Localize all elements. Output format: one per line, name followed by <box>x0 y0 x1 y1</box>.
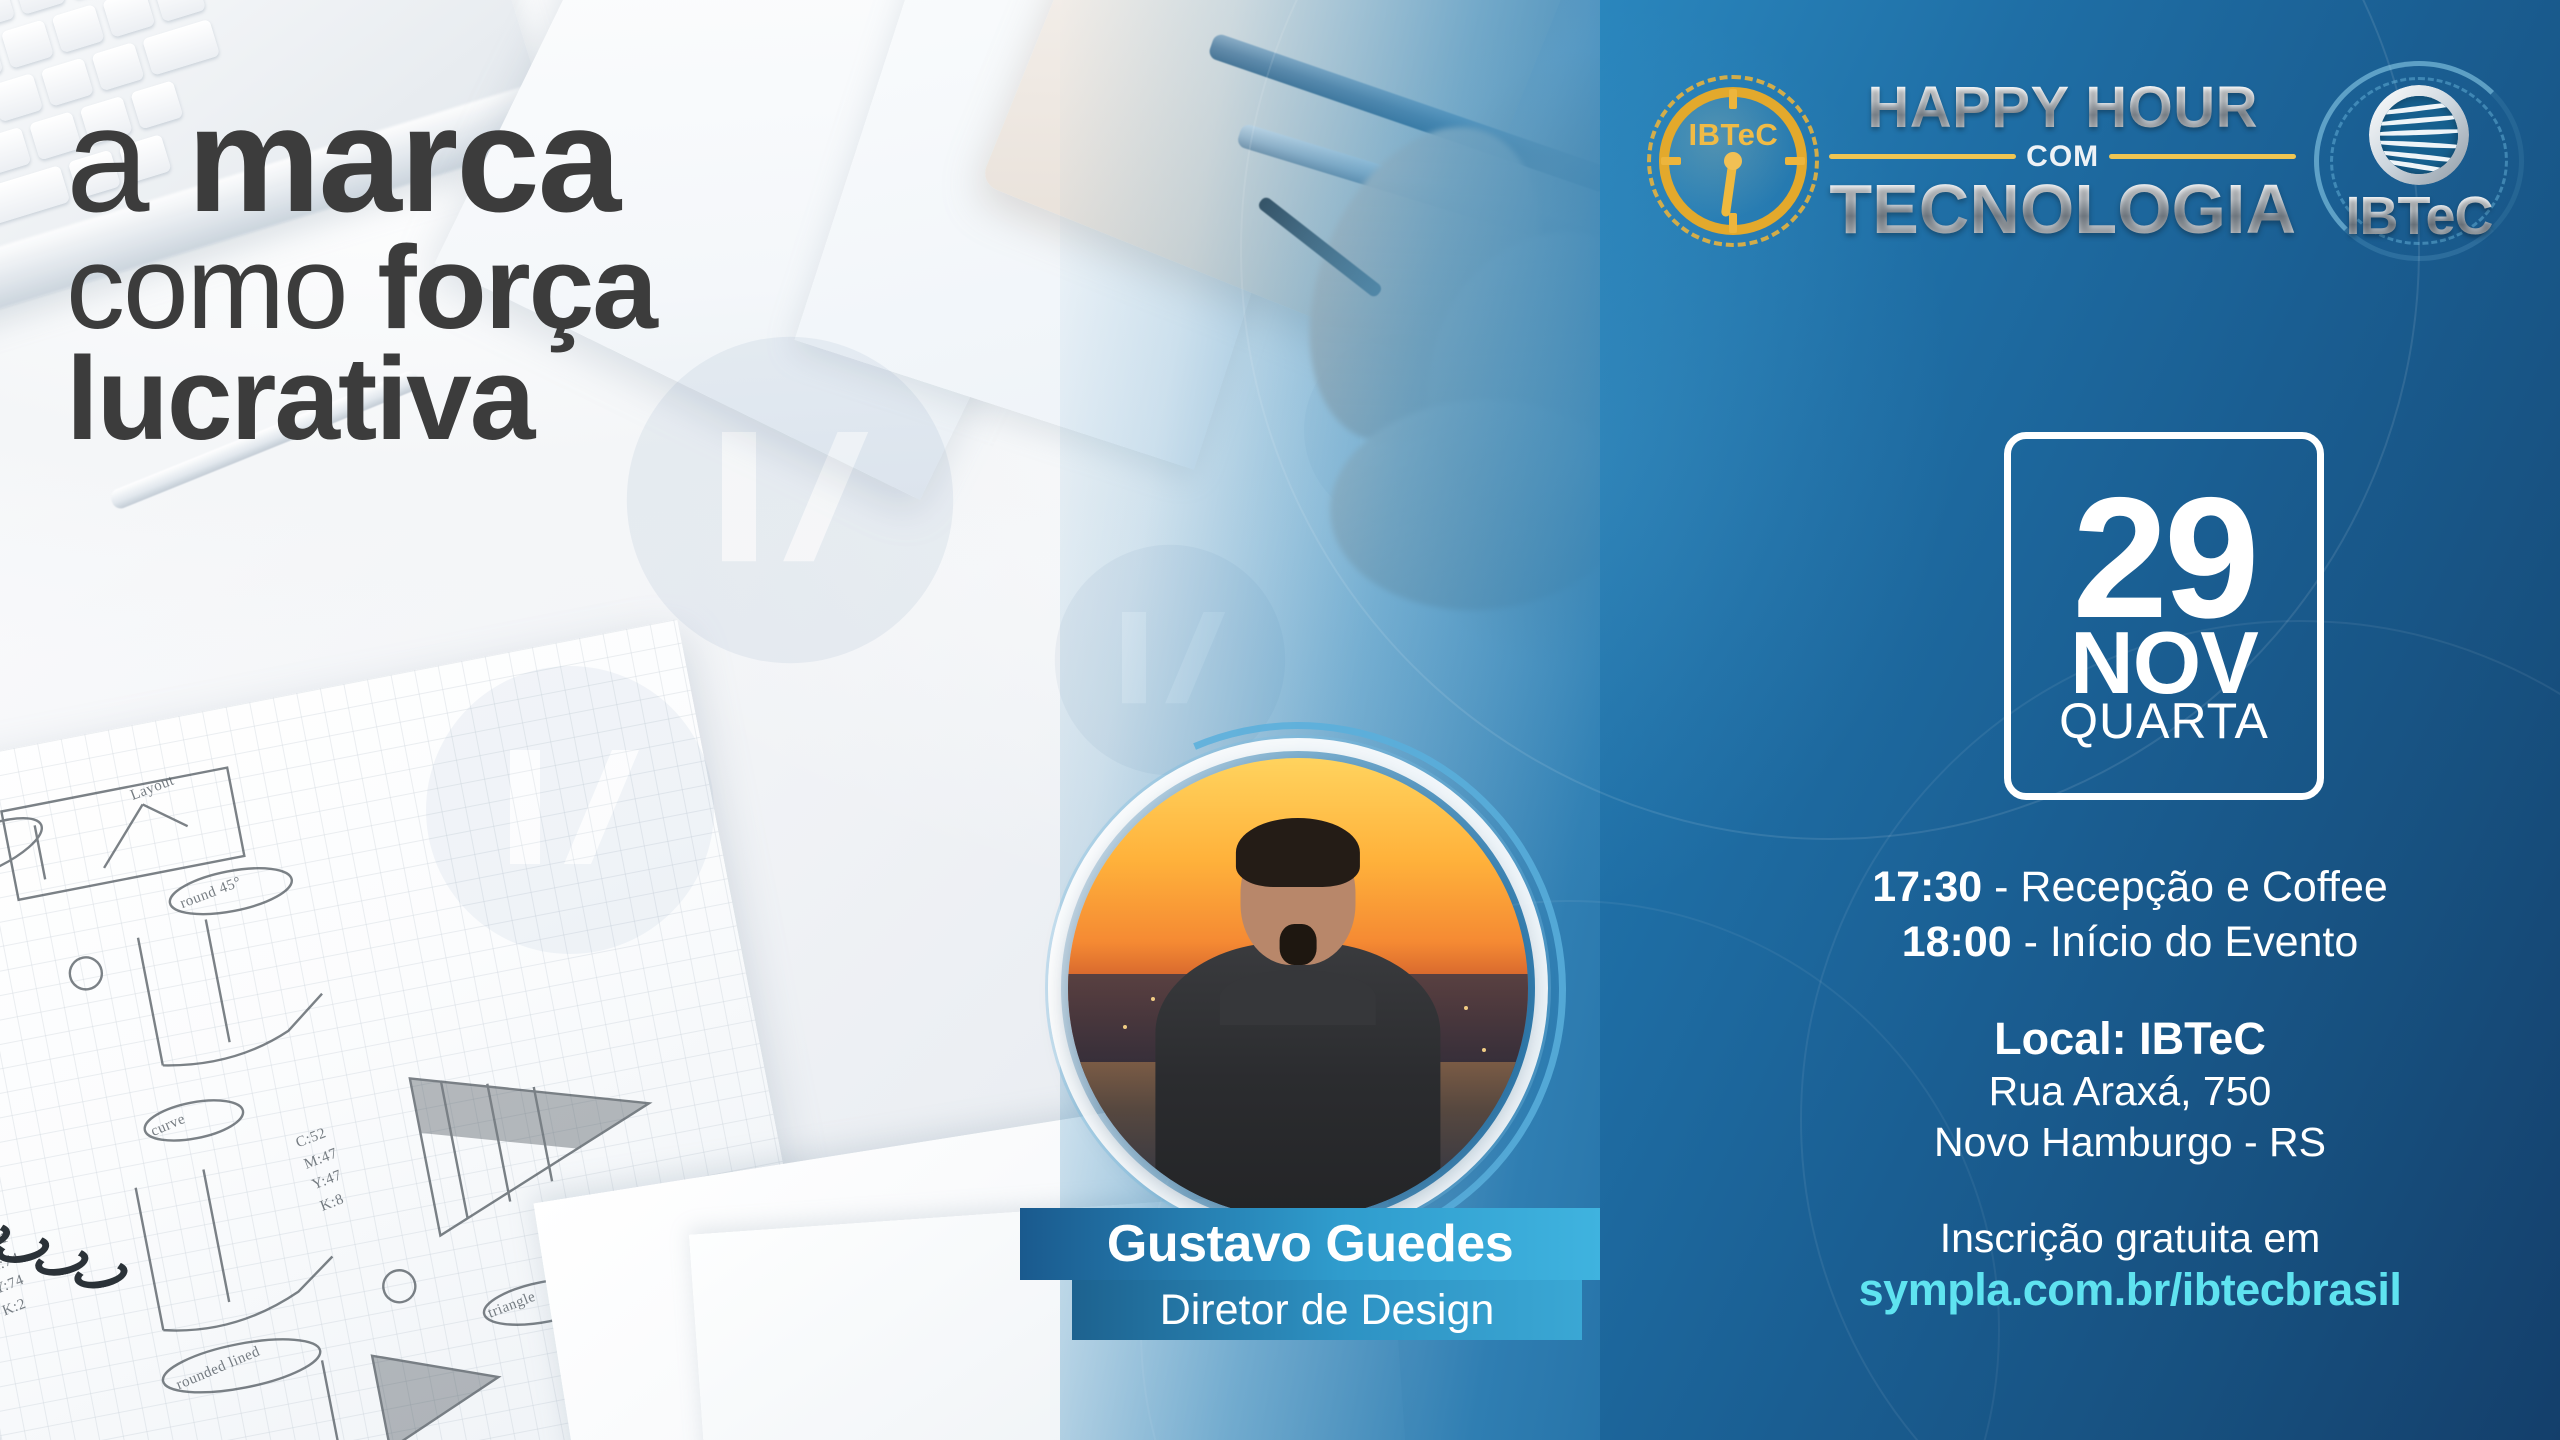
headline-line-1: a marca <box>66 90 1296 228</box>
gold-rule-right <box>2109 154 2296 159</box>
schedule-time: 17:30 <box>1872 863 1982 911</box>
registration-block: Inscrição gratuita em sympla.com.br/ibte… <box>1760 1215 2500 1316</box>
photo-speaker-hair <box>1236 818 1360 887</box>
speaker-role: Diretor de Design <box>1160 1286 1495 1335</box>
clock-tick <box>1729 213 1737 233</box>
ibtec-globe-mark <box>2369 85 2469 185</box>
happy-hour-title-block: HAPPY HOUR COM TECNOLOGIA <box>1829 79 2296 244</box>
date-weekday: QUARTA <box>2059 699 2269 743</box>
ibtec-wordmark: IBTeC <box>2314 185 2524 247</box>
poster-headline: a marca como força lucrativa <box>66 90 1296 453</box>
clock-ibtec-icon: IBTeC <box>1645 73 1821 249</box>
photo-speaker-beard <box>1280 924 1317 965</box>
location-block: Local: IBTeC Rua Araxá, 750 Novo Hamburg… <box>1760 1012 2500 1169</box>
title-tecnologia: TECNOLOGIA <box>1829 174 2296 244</box>
clock-tick <box>1661 157 1681 165</box>
speaker-name: Gustavo Guedes <box>1107 1214 1513 1274</box>
location-street: Rua Araxá, 750 <box>1760 1066 2500 1117</box>
clock-logo-label: IBTeC <box>1645 117 1821 153</box>
photo-speaker-collar <box>1220 970 1376 1025</box>
headline-line-3: lucrativa <box>66 345 1296 454</box>
headline-word-a: a <box>66 75 187 243</box>
schedule-separator: - <box>1982 863 2020 911</box>
schedule-row: 17:30 - Recepção e Coffee <box>1760 860 2500 915</box>
globe-icon <box>2380 96 2458 174</box>
speaker-portrait-photo <box>1068 758 1528 1218</box>
schedule-separator: - <box>2012 918 2050 966</box>
ibtec-logo-icon: IBTeC <box>2314 61 2524 261</box>
schedule-row: 18:00 - Início do Evento <box>1760 915 2500 970</box>
date-month: NOV <box>2070 624 2258 701</box>
speaker-name-banner: Gustavo Guedes <box>1020 1208 1600 1280</box>
title-com-row: COM <box>1829 142 2296 172</box>
schedule-time: 18:00 <box>1902 918 2012 966</box>
clock-tick <box>1785 157 1805 165</box>
event-poster: development Layout round 45° curve round… <box>0 0 2560 1440</box>
event-date-box: 29 NOV QUARTA <box>2004 432 2324 800</box>
date-day-number: 29 <box>2072 483 2255 634</box>
brand-logo-bar: IBTeC HAPPY HOUR COM TECNOLOGIA <box>1645 66 2524 256</box>
speaker-role-banner: Diretor de Design <box>1072 1280 1582 1340</box>
location-title: Local: IBTeC <box>1760 1012 2500 1066</box>
location-city: Novo Hamburgo - RS <box>1760 1117 2500 1168</box>
title-happy-hour: HAPPY HOUR <box>1867 79 2258 137</box>
speaker-block: Gustavo Guedes Diretor de Design <box>1020 738 1620 1298</box>
headline-line-2: como força <box>66 234 1296 343</box>
clock-tick <box>1729 89 1737 109</box>
registration-label: Inscrição gratuita em <box>1760 1215 2500 1262</box>
title-com: COM <box>2026 142 2099 172</box>
gold-rule-left <box>1829 154 2016 159</box>
schedule-label: Início do Evento <box>2050 918 2358 966</box>
event-info-block: 17:30 - Recepção e Coffee 18:00 - Início… <box>1760 860 2500 1316</box>
registration-url[interactable]: sympla.com.br/ibtecbrasil <box>1760 1264 2500 1316</box>
schedule-label: Recepção e Coffee <box>2020 863 2387 911</box>
ia-watermark-icon <box>420 660 720 960</box>
headline-word-marca: marca <box>187 75 619 243</box>
